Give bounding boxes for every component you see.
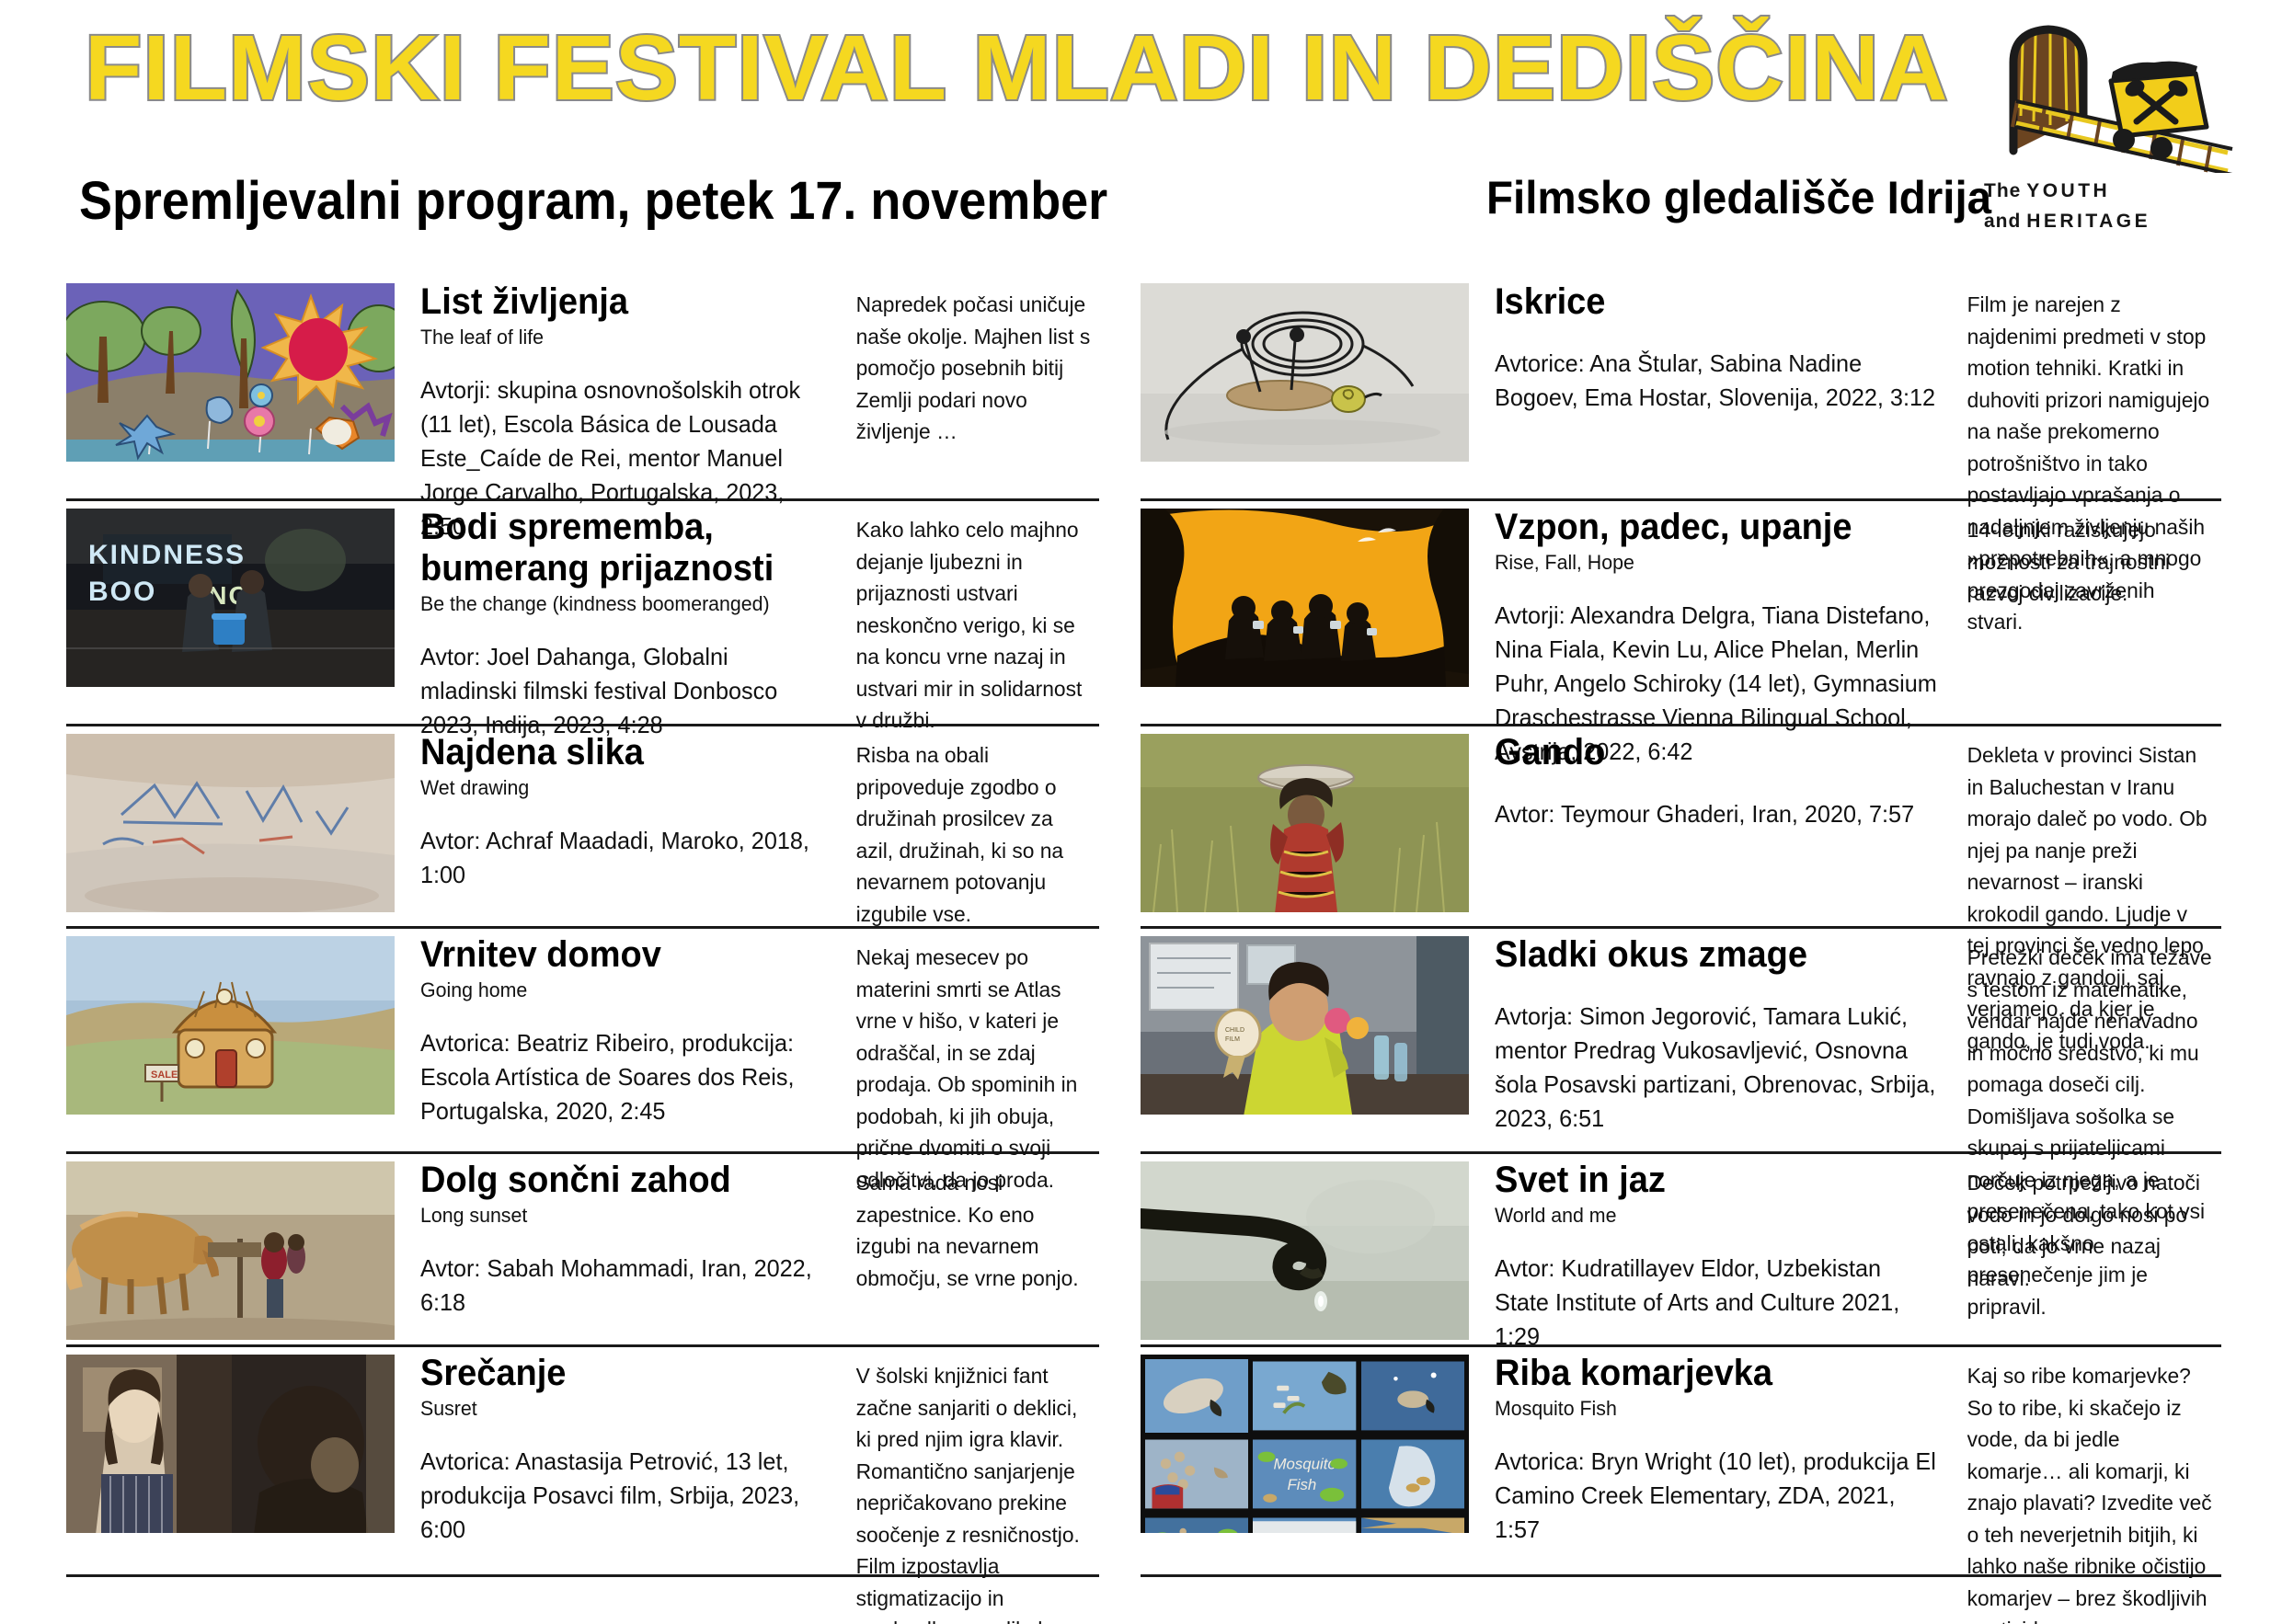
film-title: Bodi sprememba, bumerang prijaznosti — [420, 507, 822, 589]
logo-wordmark: The YOUTH and HERITAGE — [1984, 177, 2150, 236]
film-synopsis: Kako lahko celo majhno dejanje ljubezni … — [843, 507, 1092, 742]
film-subtitle: Wet drawing — [420, 776, 831, 800]
film-title: Srečanje — [420, 1353, 822, 1394]
film-thumbnail-sweet-taste-of-victory: CHILD FILM — [1141, 936, 1469, 1115]
thumbnail-wrap: MosquitoFish — [1141, 1347, 1469, 1533]
logo-line1-small: The — [1984, 180, 2021, 201]
film-title: Iskrice — [1495, 281, 1932, 323]
grid-cell — [1361, 1437, 1464, 1511]
film-thumbnail-susret — [66, 1355, 395, 1533]
subtitle-row: Spremljevalni program, petek 17. novembe… — [79, 175, 1965, 228]
film-thumbnail-leaf-of-life — [66, 283, 395, 462]
film-thumbnail-long-sunset — [66, 1161, 395, 1340]
mine-cart-logo-icon — [1966, 6, 2269, 173]
entry-main: Svet in jaz World and me Avtor: Kudratil… — [1495, 1160, 1955, 1354]
film-subtitle: Rise, Fall, Hope — [1495, 551, 1941, 575]
film-thumbnail-going-home: SALE — [66, 936, 395, 1115]
thumbnail-wrap — [1141, 726, 1469, 912]
film-credit: Avtor: Teymour Ghaderi, Iran, 2020, 7:57 — [1495, 797, 1941, 831]
grid-cell — [1145, 1359, 1248, 1433]
film-title: Vzpon, padec, upanje — [1495, 507, 1932, 548]
right-column: Iskrice Avtorice: Ana Štular, Sabina Nad… — [1141, 276, 2282, 1577]
film-title: List življenja — [420, 281, 822, 323]
thumbnail-wrap — [1141, 501, 1469, 687]
thumbnail-wrap: CHILD FILM — [1141, 929, 1469, 1115]
film-subtitle: Susret — [420, 1397, 831, 1421]
grid-cell — [1253, 1359, 1356, 1433]
logo-line2-large: HERITAGE — [2026, 211, 2150, 232]
film-credit: Avtor: Kudratillayev Eldor, Uzbekistan S… — [1495, 1252, 1941, 1354]
film-thumbnail-wet-drawing — [66, 734, 395, 912]
entry-body: Dolg sončni zahod Long sunset Avtor: Sab… — [395, 1154, 1099, 1320]
entry-main: Riba komarjevka Mosquito Fish Avtorica: … — [1495, 1353, 1955, 1624]
grid-cell — [1145, 1515, 1248, 1533]
svg-text:Fish: Fish — [1288, 1476, 1317, 1493]
entry-body: Najdena slika Wet drawing Avtor: Achraf … — [395, 726, 1099, 930]
film-title: Dolg sončni zahod — [420, 1160, 822, 1201]
entry-body: Svet in jaz World and me Avtor: Kudratil… — [1469, 1154, 2221, 1354]
film-credit: Avtorice: Ana Štular, Sabina Nadine Bogo… — [1495, 347, 1941, 415]
thumbnail-wrap — [66, 1347, 395, 1533]
film-synopsis: Kaj so ribe komarjevke? So to ribe, ki s… — [1955, 1353, 2213, 1624]
svg-text:BOO: BOO — [88, 577, 156, 607]
thumbnail-wrap — [1141, 276, 1469, 462]
film-subtitle: The leaf of life — [420, 326, 831, 349]
film-credit: Avtorja: Simon Jegorović, Tamara Lukić, … — [1495, 1000, 1941, 1136]
grid-cell — [1145, 1437, 1248, 1511]
film-thumbnail-world-and-me — [1141, 1161, 1469, 1340]
thumbnail-wrap — [1141, 1154, 1469, 1340]
festival-logo: The YOUTH and HERITAGE — [1966, 6, 2269, 254]
film-entry: Srečanje Susret Avtorica: Anastasija Pet… — [66, 1347, 1099, 1577]
film-subtitle: Be the change (kindness boomeranged) — [420, 592, 831, 616]
program-columns: List življenja The leaf of life Avtorji:… — [0, 276, 2282, 1577]
film-entry: Dolg sončni zahod Long sunset Avtor: Sab… — [66, 1154, 1099, 1347]
svg-text:Mosquito: Mosquito — [1274, 1455, 1336, 1472]
poster-header: FILMSKI FESTIVAL MLADI IN DEDIŠČINA Spre… — [0, 0, 2282, 267]
thumbnail-wrap: KINDNESS BOO ANG — [66, 501, 395, 687]
film-title: Sladki okus zmage — [1495, 934, 1932, 976]
left-column: List življenja The leaf of life Avtorji:… — [0, 276, 1141, 1577]
grid-cell — [1361, 1515, 1464, 1533]
svg-text:CHILD: CHILD — [1225, 1027, 1244, 1034]
film-entry: Svet in jaz World and me Avtor: Kudratil… — [1141, 1154, 2221, 1347]
thumbnail-wrap — [66, 726, 395, 912]
logo-line2-small: and — [1984, 211, 2021, 232]
film-entry: List življenja The leaf of life Avtorji:… — [66, 276, 1099, 501]
entry-body: Srečanje Susret Avtorica: Anastasija Pet… — [395, 1347, 1099, 1624]
film-credit: Avtorica: Beatriz Ribeiro, produkcija: E… — [420, 1026, 831, 1128]
entry-main: Dolg sončni zahod Long sunset Avtor: Sab… — [420, 1160, 843, 1320]
film-subtitle: Mosquito Fish — [1495, 1397, 1941, 1421]
svg-text:FILM: FILM — [1225, 1036, 1240, 1043]
venue-name: Filmsko gledališče Idrija — [1486, 175, 1991, 221]
film-thumbnail-iskrice — [1141, 283, 1469, 462]
thumbnail-wrap — [66, 276, 395, 462]
film-thumbnail-be-the-change: KINDNESS BOO ANG — [66, 509, 395, 687]
program-line: Spremljevalni program, petek 17. novembe… — [79, 175, 1107, 228]
film-title: Riba komarjevka — [1495, 1353, 1932, 1394]
svg-text:KINDNESS: KINDNESS — [88, 540, 246, 570]
entry-main: Bodi sprememba, bumerang prijaznosti Be … — [420, 507, 843, 742]
film-entry: Vzpon, padec, upanje Rise, Fall, Hope Av… — [1141, 501, 2221, 726]
entry-body: Bodi sprememba, bumerang prijaznosti Be … — [395, 501, 1099, 742]
film-title: Gando — [1495, 732, 1932, 773]
film-thumbnail-rise-fall-hope — [1141, 509, 1469, 687]
film-title: Vrnitev domov — [420, 934, 822, 976]
film-synopsis: Sama rada nosi zapestnice. Ko eno izgubi… — [843, 1160, 1092, 1320]
film-credit: Avtor: Sabah Mohammadi, Iran, 2022, 6:18 — [420, 1252, 831, 1320]
film-thumbnail-mosquito-fish: MosquitoFish — [1141, 1355, 1469, 1533]
film-synopsis: Deček potrpežljivo natoči vodo in jo dol… — [1955, 1160, 2213, 1354]
film-subtitle: Long sunset — [420, 1204, 831, 1228]
film-entry: MosquitoFish — [1141, 1347, 2221, 1577]
svg-text:SALE: SALE — [151, 1069, 178, 1081]
grid-cell — [1361, 1359, 1464, 1433]
film-entry: KINDNESS BOO ANG — [66, 501, 1099, 726]
film-title: Najdena slika — [420, 732, 822, 773]
logo-line1-large: YOUTH — [2026, 180, 2110, 201]
film-entry: Iskrice Avtorice: Ana Štular, Sabina Nad… — [1141, 276, 2221, 501]
thumbnail-wrap — [66, 1154, 395, 1340]
film-credit: Avtor: Achraf Maadadi, Maroko, 2018, 1:0… — [420, 824, 831, 892]
festival-title: FILMSKI FESTIVAL MLADI IN DEDIŠČINA — [85, 22, 1949, 114]
film-entry: Najdena slika Wet drawing Avtor: Achraf … — [66, 726, 1099, 929]
film-credit: Avtorica: Bryn Wright (10 let), produkci… — [1495, 1445, 1941, 1547]
film-thumbnail-gando — [1141, 734, 1469, 912]
thumbnail-wrap: SALE — [66, 929, 395, 1115]
film-entry: CHILD FILM — [1141, 929, 2221, 1154]
grid-cell: MosquitoFish — [1253, 1437, 1356, 1511]
entry-body: Riba komarjevka Mosquito Fish Avtorica: … — [1469, 1347, 2221, 1624]
festival-program-poster: FILMSKI FESTIVAL MLADI IN DEDIŠČINA Spre… — [0, 0, 2282, 1624]
entry-main: Srečanje Susret Avtorica: Anastasija Pet… — [420, 1353, 843, 1624]
film-entry: SALE Vrnitev domov Going home Avtorica: … — [66, 929, 1099, 1154]
film-subtitle: Going home — [420, 978, 831, 1002]
entry-main: Najdena slika Wet drawing Avtor: Achraf … — [420, 732, 843, 930]
film-synopsis: Risba na obali pripoveduje zgodbo o druž… — [843, 732, 1092, 930]
film-title: Svet in jaz — [1495, 1160, 1932, 1201]
film-synopsis: V šolski knjižnici fant začne sanjariti … — [843, 1353, 1092, 1624]
grid-cell — [1253, 1515, 1356, 1533]
film-entry: Gando Avtor: Teymour Ghaderi, Iran, 2020… — [1141, 726, 2221, 929]
film-credit: Avtorica: Anastasija Petrović, 13 let, p… — [420, 1445, 831, 1547]
film-subtitle: World and me — [1495, 1204, 1941, 1228]
